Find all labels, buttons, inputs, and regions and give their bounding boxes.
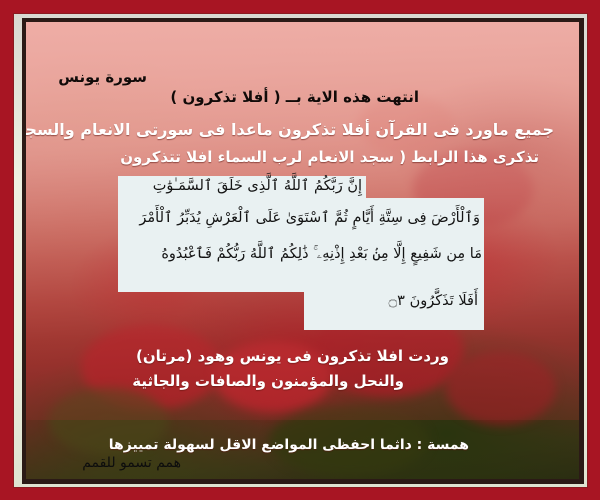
quran-scan-block: إِنَّ رَبَّكُمُ ٱللَّهُ ٱلَّذِى خَلَقَ ٱ… (118, 176, 484, 331)
verse-ending-note: انتهت هذه الاية بــ ( أفلا تذكرون ) (170, 88, 419, 107)
repeated-occurrences-line-1: وردت افلا تذكرون فى يونس وهود (مرتان) (136, 347, 449, 366)
quran-line-2: وَٱلْأَرْضَ فِى سِتَّةِ أَيَّامٍ ثُمَّ ٱ… (139, 210, 480, 226)
quran-line-4: أَفَلَا تَذَكَّرُونَ ۝٣ (389, 293, 478, 309)
quran-line-3: مَا مِن شَفِيعٍ إِلَّا مِنۢ بَعْدِ إِذْن… (161, 246, 482, 262)
poster-frame: سورة يونس انتهت هذه الاية بــ ( أفلا تذك… (0, 0, 600, 500)
whisper-tip: همسة : داثما احفظى المواضع الاقل لسهولة … (109, 437, 469, 455)
signature: همم تسمو للقمم (82, 455, 181, 471)
repeated-occurrences-line-2: والنحل والمؤمنون والصافات والجاثية (132, 372, 404, 391)
mnemonic-link-note: تذكرى هذا الرابط ( سجد الانعام لرب السما… (120, 148, 539, 167)
photo-background: سورة يونس انتهت هذه الاية بــ ( أفلا تذك… (26, 22, 579, 479)
surah-label: سورة يونس (58, 68, 147, 87)
all-occurrences-note: جميع ماورد فى القرآن أفلا تذكرون ماعدا ف… (26, 120, 554, 140)
quran-line-1: إِنَّ رَبَّكُمُ ٱللَّهُ ٱلَّذِى خَلَقَ ٱ… (153, 178, 362, 194)
text-layer: سورة يونس انتهت هذه الاية بــ ( أفلا تذك… (26, 22, 579, 479)
